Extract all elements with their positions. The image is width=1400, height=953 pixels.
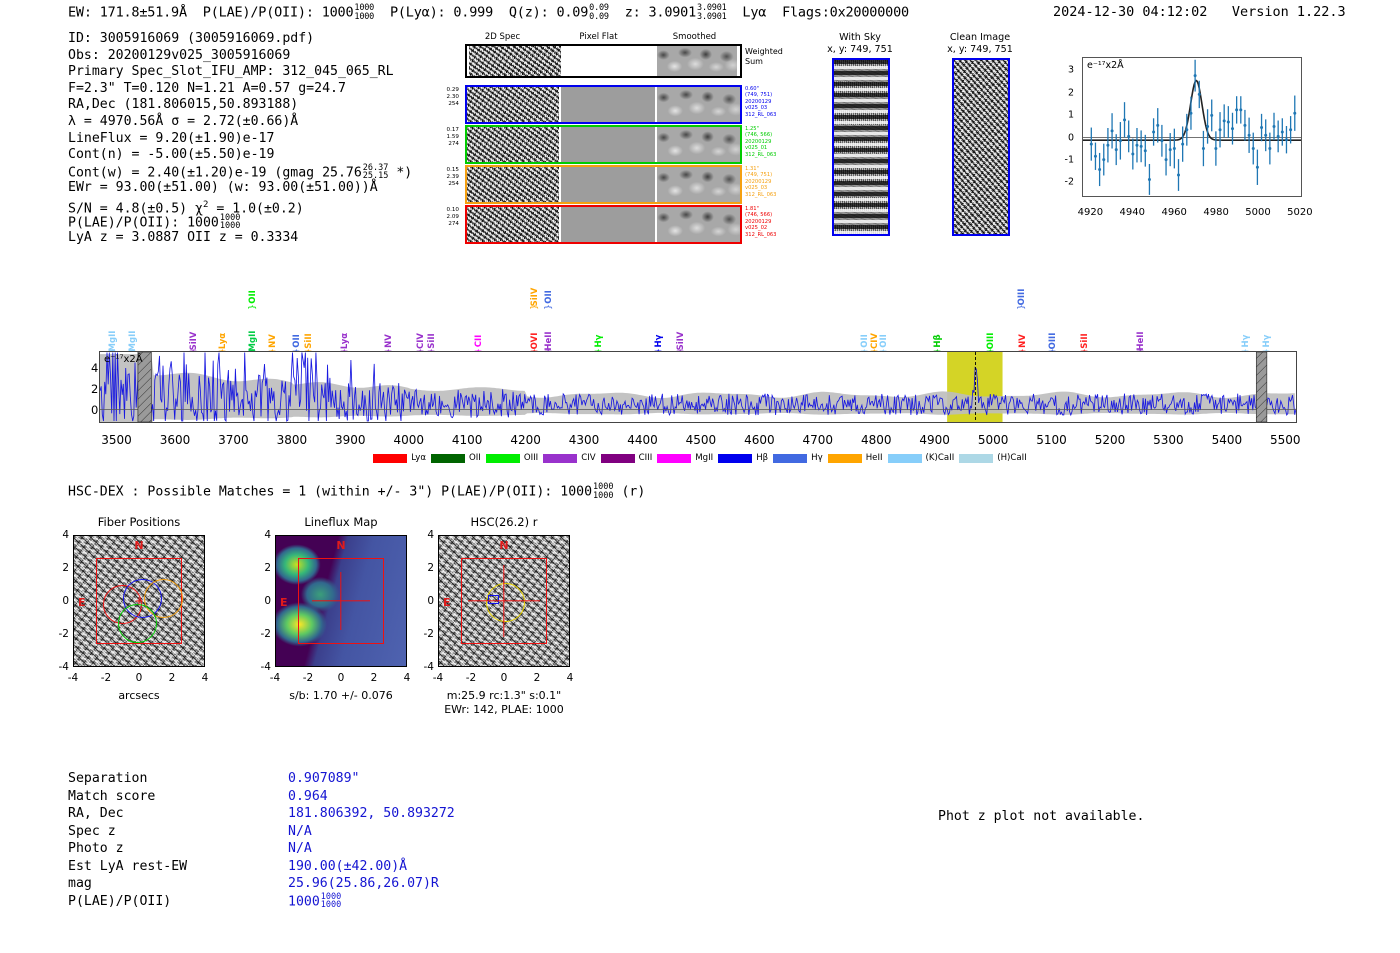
match-table-value: N/A <box>288 840 455 858</box>
line-profile-axes: e⁻¹⁷x2Å <box>1082 57 1302 197</box>
info-cont-n: Cont(n) = -5.00(±5.50)e-19 <box>68 147 412 164</box>
spectrum-xtick: 5100 <box>1036 433 1067 447</box>
legend-label: HeII <box>866 453 883 463</box>
emission-line-label: OII <box>860 334 870 348</box>
legend-item: CIV <box>543 453 595 463</box>
line-profile-xtick: 4940 <box>1120 207 1145 218</box>
match-table-key: Photo z <box>68 840 187 858</box>
thumbnail-ytick: 2 <box>47 562 69 574</box>
header-qz-label: Q(z): 0.09 <box>509 5 588 21</box>
emission-line-label: SiIV <box>189 332 199 351</box>
emission-line-label: HeII <box>544 331 554 350</box>
line-profile-svg <box>1083 58 1301 196</box>
legend-swatch <box>601 454 635 463</box>
thumbnail-xtick: -4 <box>68 672 78 684</box>
emission-line-label: Lyα <box>218 333 228 349</box>
legend-item: (K)CaII <box>888 453 955 463</box>
header-plya: P(Lyα): 0.999 <box>390 5 493 21</box>
legend-item: Lyα <box>373 453 426 463</box>
thumbnail-title: Fiber Positions <box>33 515 245 529</box>
spectrum-xtick: 4200 <box>510 433 541 447</box>
legend-item: CIII <box>601 453 653 463</box>
info-id: ID: 3005916069 (3005916069.pdf) <box>68 31 412 48</box>
cutout-image-with-sky <box>832 58 890 236</box>
thumbnail-caption: m:25.9 rc:1.3" s:0.1"EWr: 142, PLAE: 100… <box>378 689 630 716</box>
line-profile-ytick: -2 <box>1065 177 1074 188</box>
legend-swatch <box>959 454 993 463</box>
compass-north: N <box>134 539 143 552</box>
thumbnail-xtick: -2 <box>303 672 313 684</box>
thumbnail-ytick: 4 <box>249 529 271 541</box>
emission-line-label: SiIV <box>676 332 686 351</box>
fiber-pixelflat <box>561 127 655 162</box>
header-version: Version 1.22.3 <box>1232 4 1346 20</box>
match-table-value: 0.907089" <box>288 770 455 788</box>
thumbnail-ytick: -2 <box>249 628 271 640</box>
emission-line-label: NV <box>1018 334 1028 348</box>
legend-label: OII <box>469 453 481 463</box>
legend-swatch <box>431 454 465 463</box>
fiber-left-stats: 0.102.09274 <box>425 207 459 228</box>
header-z-range: 3.09013.0901 <box>697 4 727 21</box>
thumbnail-ytick: 2 <box>249 562 271 574</box>
info-wavelength: λ = 4970.56Å σ = 2.72(±0.66)Å <box>68 114 412 131</box>
match-table-key: Separation <box>68 770 187 788</box>
emission-line-label: CIV <box>416 333 426 349</box>
thumbnail-title: HSC(26.2) r <box>398 515 610 529</box>
info-seeing: F=2.3" T=0.120 N=1.21 A=0.57 g=24.7 <box>68 81 412 98</box>
line-profile-ytick: 0 <box>1068 132 1074 143</box>
fiber-meta-label: 0.60"(749, 751)20200129v025_03312_RL_063 <box>745 86 777 118</box>
legend-item: Hβ <box>718 453 768 463</box>
thumbnail-xtick: 0 <box>136 672 143 684</box>
emission-line-label: SiII <box>427 333 437 348</box>
info-obs: Obs: 20200129v025_3005916069 <box>68 48 412 65</box>
thumbnail-image[interactable]: NE <box>275 535 407 667</box>
header-z-label: z: 3.0901 <box>625 5 696 21</box>
spectrum-unit-label: e⁻¹⁷x2Å <box>104 354 143 365</box>
thumbnail-xtick: 4 <box>567 672 574 684</box>
thumbnail-xtick: 2 <box>169 672 176 684</box>
legend-swatch <box>773 454 807 463</box>
fiber-smoothed <box>657 87 740 122</box>
emission-line-label: Hβ <box>933 334 943 347</box>
thumbnail-xtick: -2 <box>466 672 476 684</box>
info-plae: P(LAE)/P(OII): 100010001000 <box>68 214 412 231</box>
detection-info-block: ID: 3005916069 (3005916069.pdf) Obs: 202… <box>68 31 412 247</box>
emission-line-label: MgII <box>248 331 258 352</box>
thumbnail-ytick: 0 <box>412 595 434 607</box>
emission-line-brace: } <box>544 304 554 310</box>
fiber-meta-label: 1.81"(746, 566)20200129v025_02312_RL_063 <box>745 206 777 238</box>
thumbnail-xtick: 4 <box>202 672 209 684</box>
spectrum-xtick: 4800 <box>861 433 892 447</box>
header-ew: EW: 171.8±51.9Å <box>68 5 187 21</box>
spectrum-xtick: 3500 <box>101 433 132 447</box>
thumbnail-xtick: 2 <box>371 672 378 684</box>
spectrum-xtick: 5300 <box>1153 433 1184 447</box>
thumbnail-ytick: 4 <box>47 529 69 541</box>
legend-label: MgII <box>695 453 713 463</box>
emission-line-label: OII <box>544 290 554 304</box>
match-table-value: 181.806392, 50.893272 <box>288 805 455 823</box>
spectrum-xtick: 4500 <box>686 433 717 447</box>
hscdex-title-text: HSC-DEX : Possible Matches = 1 (within +… <box>68 485 592 500</box>
spec2d-col-title-2dspec: 2D Spec <box>455 32 550 42</box>
emission-line-label: HeII <box>1136 331 1146 350</box>
spec2d-fiber-row <box>465 85 742 124</box>
line-profile-ytick: -1 <box>1065 155 1074 166</box>
fiber-pixelflat <box>561 167 655 202</box>
emission-line-label: OII <box>248 290 258 304</box>
header-plae-range: 10001000 <box>354 4 374 21</box>
hscdex-plae-range: 10001000 <box>593 483 613 500</box>
spectrum-xtick: 3700 <box>218 433 249 447</box>
emission-line-label: Hγ <box>1262 335 1272 348</box>
legend-swatch <box>657 454 691 463</box>
full-spectrum-block: }MgII}MgII}SiIV}Lyα}MgII}OII}NV}OII}SiII… <box>0 268 1400 468</box>
info-radec: RA,Dec (181.806015,50.893188) <box>68 97 412 114</box>
match-table-key: Est LyA rest-EW <box>68 858 187 876</box>
legend-item: OII <box>431 453 481 463</box>
legend-item: (H)CaII <box>959 453 1027 463</box>
emission-line-label: OVI <box>530 333 540 350</box>
2d-spectra-panel: 2D Spec Pixel Flat Smoothed WeightedSum … <box>455 32 765 262</box>
fiber-2dspec <box>467 167 559 202</box>
line-profile-unit: e⁻¹⁷x2Å <box>1087 60 1124 71</box>
spectrum-xtick: 4300 <box>569 433 600 447</box>
emission-line-brace: } <box>248 304 258 310</box>
spectrum-xtick: 5200 <box>1095 433 1126 447</box>
match-table-key: P(LAE)/P(OII) <box>68 893 187 911</box>
center-crosshair <box>439 536 569 666</box>
emission-line-label: NV <box>268 334 278 348</box>
emission-line-label: MgII <box>108 331 118 352</box>
info-cont-w: Cont(w) = 2.40(±1.20)e-19 (gmag 25.7626.… <box>68 164 412 181</box>
match-table-value: 25.96(25.86,26.07)R <box>288 875 455 893</box>
fiber-2dspec <box>467 87 559 122</box>
weighted-sum-2dspec <box>469 46 561 76</box>
legend-swatch <box>828 454 862 463</box>
legend-item: HeII <box>828 453 883 463</box>
header-plae-label: P(LAE)/P(OII): 1000 <box>203 5 354 21</box>
header-meta: 2024-12-30 04:12:02 Version 1.22.3 <box>1053 4 1346 20</box>
center-crosshair <box>276 536 406 666</box>
fiber-circle <box>118 604 157 643</box>
photz-message: Phot z plot not available. <box>938 809 1144 824</box>
emission-line-label: Hγ <box>594 335 604 348</box>
match-table-value: 0.964 <box>288 788 455 806</box>
match-table-key: Match score <box>68 788 187 806</box>
legend-label: OIII <box>524 453 538 463</box>
legend-swatch <box>373 454 407 463</box>
info-sn-chi2: S/N = 4.8(±0.5) χ2 = 1.0(±0.2) <box>68 197 412 214</box>
thumbnail-image[interactable]: NE <box>438 535 570 667</box>
line-profile-ytick: 1 <box>1068 110 1074 121</box>
spectrum-xtick: 3600 <box>160 433 191 447</box>
header-summary-line: EW: 171.8±51.9Å P(LAE)/P(OII): 100010001… <box>68 4 909 21</box>
match-table-value: N/A <box>288 823 455 841</box>
full-spectrum-svg <box>100 352 1296 422</box>
legend-label: (H)CaII <box>997 453 1027 463</box>
center-crosshair <box>136 598 143 605</box>
spectrum-xtick: 4100 <box>452 433 483 447</box>
header-timestamp: 2024-12-30 04:12:02 <box>1053 4 1207 20</box>
emission-line-label: OIII <box>986 333 996 350</box>
thumbnail-ytick: -4 <box>47 661 69 673</box>
thumbnail-ytick: -4 <box>412 661 434 673</box>
hscdex-title-tail: (r) <box>621 485 645 500</box>
emission-line-label: SiIV <box>530 288 540 307</box>
thumbnail-ytick: 0 <box>47 595 69 607</box>
fiber-meta-label: 1.31"(749, 751)20200129v025_03312_RL_063 <box>745 166 777 198</box>
line-profile-ytick: 3 <box>1068 65 1074 76</box>
thumbnail-xtick: 0 <box>338 672 345 684</box>
legend-item: MgII <box>657 453 713 463</box>
line-profile-xtick: 4980 <box>1203 207 1228 218</box>
match-table-key: Spec z <box>68 823 187 841</box>
fiber-2dspec <box>467 127 559 162</box>
full-spectrum-axes <box>99 351 1297 423</box>
legend-swatch <box>543 454 577 463</box>
emission-line-label: SiII <box>304 333 314 348</box>
thumbnail-xtick: 4 <box>404 672 411 684</box>
thumbnail-ytick: -2 <box>47 628 69 640</box>
emission-line-label: CII <box>474 335 484 348</box>
info-plae-range: 10001000 <box>220 214 240 231</box>
weighted-sum-label: WeightedSum <box>745 47 783 66</box>
thumbnail-xtick: -2 <box>101 672 111 684</box>
spectrum-xtick: 4000 <box>393 433 424 447</box>
match-table-value: 100010001000 <box>288 893 455 911</box>
thumbnail-xtick: -4 <box>270 672 280 684</box>
line-profile-plot: e⁻¹⁷x2Å -2-10123492049404960498050005020 <box>1040 57 1305 232</box>
cutout-title-with-sky: With Skyx, y: 749, 751 <box>810 32 910 55</box>
header-bar: EW: 171.8±51.9Å P(LAE)/P(OII): 100010001… <box>0 4 1400 28</box>
fiber-left-stats: 0.152.39254 <box>425 167 459 188</box>
spec2d-fiber-row <box>465 165 742 204</box>
legend-item: OIII <box>486 453 538 463</box>
spectrum-xtick: 3800 <box>277 433 308 447</box>
thumbnail-ytick: 4 <box>412 529 434 541</box>
emission-line-label: Lyα <box>340 333 350 349</box>
fiber-meta-label: 1.25"(746, 566)20200129v025_01312_RL_063 <box>745 126 777 158</box>
emission-line-label: SiII <box>1080 333 1090 348</box>
legend-swatch <box>888 454 922 463</box>
fiber-pixelflat <box>561 207 655 242</box>
fiber-pixelflat <box>561 87 655 122</box>
info-primary-spec: Primary Spec_Slot_IFU_AMP: 312_045_065_R… <box>68 64 412 81</box>
emission-line-label: MgII <box>128 331 138 352</box>
cutout-image-clean <box>952 58 1010 236</box>
legend-swatch <box>718 454 752 463</box>
spectrum-xtick: 4900 <box>919 433 950 447</box>
header-line-name: Lyα <box>742 5 766 21</box>
weighted-sum-row <box>465 44 742 78</box>
fiber-smoothed <box>657 167 740 202</box>
thumbnail-image[interactable]: NE <box>73 535 205 667</box>
info-redshifts: LyA z = 3.0887 OII z = 0.3334 <box>68 230 412 247</box>
legend-swatch <box>486 454 520 463</box>
match-table-key: RA, Dec <box>68 805 187 823</box>
line-profile-ytick: 2 <box>1068 87 1074 98</box>
emission-line-legend: LyαOIIOIIICIVCIIIMgIIHβHγHeII(K)CaII(H)C… <box>0 453 1400 463</box>
fiber-left-stats: 0.292.30254 <box>425 87 459 108</box>
spectrum-xtick: 3900 <box>335 433 366 447</box>
weighted-sum-smoothed <box>657 46 737 76</box>
line-profile-xtick: 5020 <box>1287 207 1312 218</box>
header-flags: Flags:0x20000000 <box>782 5 909 21</box>
thumbnail-ytick: 2 <box>412 562 434 574</box>
cutout-title-clean: Clean Imagex, y: 749, 751 <box>925 32 1035 55</box>
emission-line-label: OII <box>292 334 302 348</box>
match-table-value: 190.00(±42.00)Å <box>288 858 455 876</box>
fiber-smoothed <box>657 127 740 162</box>
info-ewr: EWr = 93.00(±51.00) (w: 93.00(±51.00))Å <box>68 180 412 197</box>
emission-line-label: OIII <box>1048 333 1058 350</box>
match-table-values: 0.907089"0.964181.806392, 50.893272N/AN/… <box>288 770 455 910</box>
emission-line-label: Hγ <box>654 335 664 348</box>
legend-label: CIV <box>581 453 595 463</box>
gmag-range: 26.3725.15 <box>363 164 389 181</box>
thumbnail-xtick: 0 <box>501 672 508 684</box>
emission-line-label: OIII <box>1017 289 1027 306</box>
spectrum-xtick: 5400 <box>1212 433 1243 447</box>
thumbnail-ytick: -2 <box>412 628 434 640</box>
match-table-keys: SeparationMatch scoreRA, DecSpec zPhoto … <box>68 770 187 910</box>
spectrum-xtick: 4700 <box>803 433 834 447</box>
legend-label: CIII <box>639 453 653 463</box>
line-profile-xtick: 4960 <box>1161 207 1186 218</box>
legend-item: Hγ <box>773 453 823 463</box>
fiber-left-stats: 0.171.59274 <box>425 127 459 148</box>
emission-line-label: Hγ <box>1241 335 1251 348</box>
thumbnail-ytick: 0 <box>249 595 271 607</box>
spectrum-xtick: 4600 <box>744 433 775 447</box>
legend-label: Lyα <box>411 453 426 463</box>
fiber-2dspec <box>467 207 559 242</box>
compass-east: E <box>78 596 86 609</box>
spectrum-xtick: 5000 <box>978 433 1009 447</box>
spec2d-col-title-pixelflat: Pixel Flat <box>551 32 646 42</box>
spectrum-xtick: 5500 <box>1270 433 1301 447</box>
spectrum-xtick: 4400 <box>627 433 658 447</box>
fiber-smoothed <box>657 207 740 242</box>
line-profile-xtick: 5000 <box>1245 207 1270 218</box>
hscdex-title: HSC-DEX : Possible Matches = 1 (within +… <box>68 483 645 500</box>
thumbnail-xtick: -4 <box>433 672 443 684</box>
spec2d-fiber-row <box>465 205 742 244</box>
emission-line-label: OII <box>879 334 889 348</box>
thumbnail-ytick: -4 <box>249 661 271 673</box>
info-lineflux: LineFlux = 9.20(±1.90)e-17 <box>68 131 412 148</box>
weighted-sum-pixelflat <box>563 46 655 76</box>
legend-label: Hβ <box>756 453 768 463</box>
thumbnail-xtick: 2 <box>534 672 541 684</box>
emission-line-label: NV <box>384 334 394 348</box>
legend-label: (K)CaII <box>926 453 955 463</box>
match-table-key: mag <box>68 875 187 893</box>
line-profile-xtick: 4920 <box>1078 207 1103 218</box>
emission-line-labels: }MgII}MgII}SiIV}Lyα}MgII}OII}NV}OII}SiII… <box>99 268 1297 351</box>
spec2d-col-title-smoothed: Smoothed <box>647 32 742 42</box>
legend-label: Hγ <box>811 453 823 463</box>
spec2d-fiber-row <box>465 125 742 164</box>
header-qz-range: 0.090.09 <box>589 4 609 21</box>
